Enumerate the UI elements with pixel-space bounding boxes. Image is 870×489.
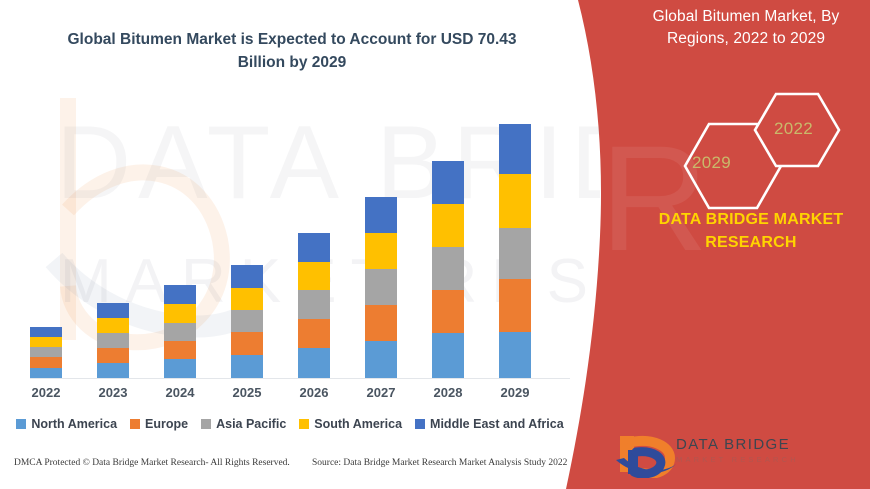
bar-segment-2025-middle-east-and-africa (231, 265, 263, 288)
brand-logo-main: DATA BRIDGE (676, 437, 799, 452)
bar-2029 (499, 124, 531, 378)
bar-segment-2029-south-america (499, 174, 531, 228)
bar-segment-2023-north-america (97, 363, 129, 378)
bar-segment-2023-middle-east-and-africa (97, 303, 129, 318)
legend-swatch-icon (299, 419, 309, 429)
bar-segment-2026-asia-pacific (298, 290, 330, 319)
bar-segment-2026-middle-east-and-africa (298, 233, 330, 262)
bar-2022 (30, 327, 62, 378)
bar-2026 (298, 233, 330, 378)
bar-segment-2029-north-america (499, 332, 531, 378)
bar-segment-2024-europe (164, 341, 196, 359)
x-axis-label-2029: 2029 (480, 385, 550, 400)
bar-segment-2029-middle-east-and-africa (499, 124, 531, 174)
bar-segment-2022-asia-pacific (30, 347, 62, 357)
brand-name-heading: DATA BRIDGE MARKET RESEARCH (640, 208, 862, 254)
bar-segment-2028-south-america (432, 204, 464, 248)
bar-segment-2025-asia-pacific (231, 310, 263, 332)
infographic-root: R Global Bitumen Market, By Regions, 202… (0, 0, 870, 489)
bar-chart-plot: 20222023202420252026202720282029 (0, 0, 600, 489)
bar-2025 (231, 265, 263, 378)
bar-2024 (164, 285, 196, 378)
bar-segment-2025-south-america (231, 288, 263, 310)
hexagon-2022-label: 2022 (774, 119, 813, 139)
legend-label: Middle East and Africa (430, 417, 564, 431)
legend-item-south-america[interactable]: South America (299, 417, 402, 431)
bar-segment-2028-asia-pacific (432, 247, 464, 290)
footer-source: Source: Data Bridge Market Research Mark… (312, 458, 567, 468)
bar-segment-2022-north-america (30, 368, 62, 378)
legend-item-europe[interactable]: Europe (130, 417, 188, 431)
bar-segment-2025-north-america (231, 355, 263, 378)
bar-segment-2024-north-america (164, 359, 196, 378)
legend-item-asia-pacific[interactable]: Asia Pacific (201, 417, 286, 431)
hexagon-group: 2029 2022 (672, 90, 862, 200)
x-axis-label-2023: 2023 (78, 385, 148, 400)
chart-legend: North AmericaEuropeAsia PacificSouth Ame… (0, 417, 580, 431)
bar-segment-2027-middle-east-and-africa (365, 197, 397, 233)
bar-segment-2026-europe (298, 319, 330, 348)
bar-2027 (365, 197, 397, 378)
bar-segment-2024-asia-pacific (164, 323, 196, 341)
footer-copyright: DMCA Protected © Data Bridge Market Rese… (14, 458, 290, 468)
bar-segment-2027-europe (365, 305, 397, 341)
legend-swatch-icon (16, 419, 26, 429)
x-axis-label-2027: 2027 (346, 385, 416, 400)
brand-logo-sub: MARKET RESEARCH (676, 456, 799, 464)
bar-segment-2022-middle-east-and-africa (30, 327, 62, 337)
legend-label: South America (314, 417, 402, 431)
bar-segment-2029-asia-pacific (499, 228, 531, 279)
bar-segment-2024-middle-east-and-africa (164, 285, 196, 304)
bar-segment-2023-south-america (97, 318, 129, 333)
legend-label: Europe (145, 417, 188, 431)
bar-segment-2023-europe (97, 348, 129, 363)
bar-segment-2026-south-america (298, 262, 330, 290)
hexagon-2029-label: 2029 (692, 153, 731, 173)
x-axis-label-2026: 2026 (279, 385, 349, 400)
legend-label: Asia Pacific (216, 417, 286, 431)
panel-heading: Global Bitumen Market, By Regions, 2022 … (628, 6, 864, 51)
bar-segment-2024-south-america (164, 304, 196, 323)
bar-segment-2028-middle-east-and-africa (432, 161, 464, 204)
bar-segment-2022-europe (30, 357, 62, 367)
bar-segment-2029-europe (499, 279, 531, 332)
bar-segment-2027-north-america (365, 341, 397, 378)
x-axis-label-2022: 2022 (11, 385, 81, 400)
bar-2028 (432, 161, 464, 378)
x-axis-line (30, 378, 570, 379)
legend-swatch-icon (415, 419, 425, 429)
bar-segment-2027-south-america (365, 233, 397, 269)
legend-item-north-america[interactable]: North America (16, 417, 117, 431)
bar-segment-2025-europe (231, 332, 263, 355)
bar-segment-2023-asia-pacific (97, 333, 129, 348)
x-axis-label-2028: 2028 (413, 385, 483, 400)
x-axis-label-2025: 2025 (212, 385, 282, 400)
x-axis-label-2024: 2024 (145, 385, 215, 400)
legend-item-middle-east-and-africa[interactable]: Middle East and Africa (415, 417, 564, 431)
legend-label: North America (31, 417, 117, 431)
bar-segment-2026-north-america (298, 348, 330, 378)
legend-swatch-icon (130, 419, 140, 429)
brand-logo-text: DATA BRIDGE MARKET RESEARCH (676, 437, 799, 464)
bar-segment-2028-north-america (432, 333, 464, 378)
bar-segment-2027-asia-pacific (365, 269, 397, 305)
bar-2023 (97, 303, 129, 378)
legend-swatch-icon (201, 419, 211, 429)
bar-segment-2028-europe (432, 290, 464, 333)
bar-segment-2022-south-america (30, 337, 62, 347)
